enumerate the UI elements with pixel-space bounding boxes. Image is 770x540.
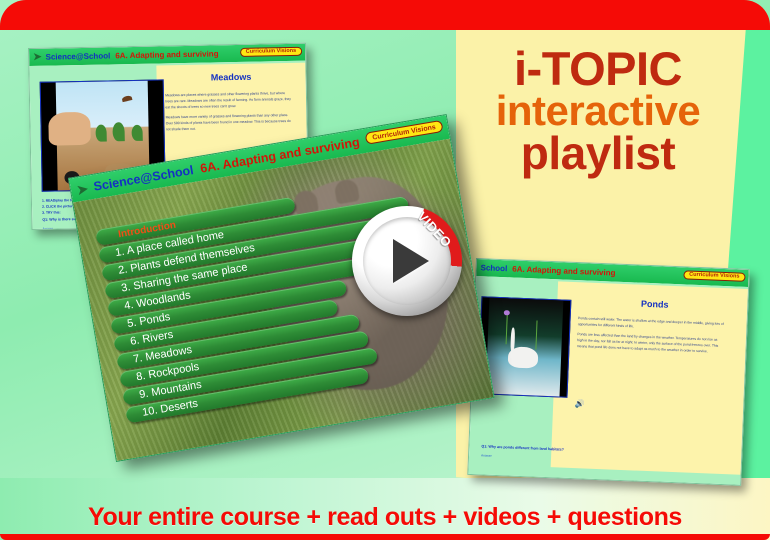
top-red-bar — [0, 0, 770, 30]
paragraph-2: Ponds are less affected than the land by… — [577, 332, 724, 356]
up-arrow-icon[interactable]: ➤ — [76, 181, 89, 196]
card-ponds-body: Ponds Ponds contain still water. The wat… — [468, 276, 748, 486]
plant-shape — [112, 122, 125, 142]
paragraph-1: Meadows are places where grasses and oth… — [165, 91, 292, 111]
bottom-red-bar — [0, 534, 770, 540]
curriculum-visions-badge: Curriculum Visions — [683, 270, 746, 282]
unit-label: 6A. Adapting and surviving — [512, 264, 616, 277]
brand-label: School — [480, 263, 507, 273]
body-copy: Meadows are places where grasses and oth… — [165, 91, 293, 137]
video-play-button[interactable]: VIDEO — [352, 206, 462, 316]
cow-shape — [49, 112, 91, 145]
promo-headline: i-TOPIC interactive playlist — [448, 46, 748, 176]
promo-graphic: ➤ Science@School 6A. Adapting and surviv… — [0, 0, 770, 540]
curriculum-visions-badge: Curriculum Visions — [240, 46, 302, 57]
answer-link[interactable]: Answer — [481, 453, 492, 457]
unit-label: 6A. Adapting and surviving — [115, 49, 218, 60]
answer-link[interactable]: Answer — [42, 227, 53, 230]
headline-line-2: interactive — [448, 91, 748, 131]
headline-line-3: playlist — [448, 131, 748, 175]
promo-tagline: Your entire course + read outs + videos … — [0, 503, 770, 532]
body-copy: Ponds contain still water. The water is … — [577, 316, 725, 360]
plant-shape — [95, 125, 106, 142]
plant-shape — [132, 125, 143, 141]
brand-label: Science@School — [45, 51, 110, 61]
headline-line-1: i-TOPIC — [448, 46, 748, 91]
play-triangle-icon[interactable] — [393, 239, 429, 283]
heron-body — [508, 346, 539, 368]
speaker-icon[interactable]: 🔊 — [574, 400, 584, 408]
paragraph-2: Meadows have more variety of grasses and… — [166, 113, 293, 133]
card-ponds[interactable]: School 6A. Adapting and surviving Curric… — [467, 258, 749, 486]
up-arrow-icon[interactable]: ➤ — [33, 52, 42, 62]
